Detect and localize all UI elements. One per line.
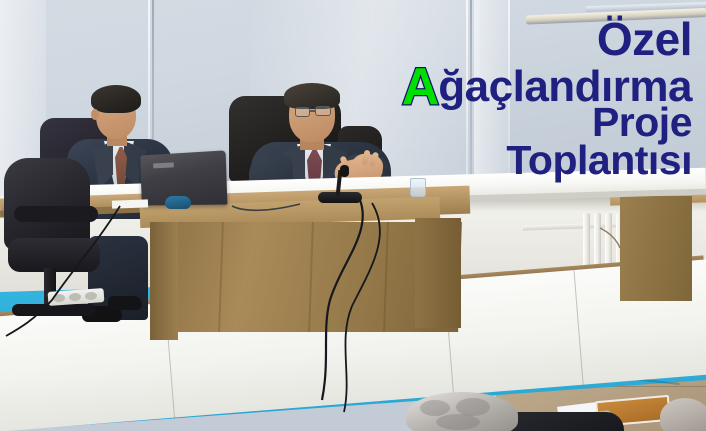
wood-grain bbox=[218, 222, 224, 332]
hair-strand bbox=[420, 400, 450, 416]
photo-canvas: Özel Ağaçlandırma Proje Toplantısı bbox=[0, 0, 706, 431]
socket bbox=[53, 294, 66, 303]
hair bbox=[284, 83, 340, 109]
laptop-logo bbox=[153, 162, 174, 168]
ear bbox=[91, 109, 99, 120]
socket bbox=[85, 292, 98, 301]
hair bbox=[91, 85, 141, 113]
microphone-capsule bbox=[340, 165, 349, 177]
chair-seat bbox=[8, 238, 100, 272]
microphone-base bbox=[318, 192, 362, 203]
wall-seam bbox=[470, 0, 472, 200]
wall-seam bbox=[508, 0, 510, 190]
eyeglasses-lens bbox=[295, 107, 310, 117]
desk-leg bbox=[150, 222, 178, 340]
foreground-office-chair bbox=[4, 158, 90, 250]
socket bbox=[69, 293, 82, 302]
hair-strand bbox=[436, 414, 480, 430]
paper-sheets bbox=[112, 199, 148, 208]
chair-base bbox=[12, 304, 96, 316]
eyeglasses-bridge bbox=[309, 110, 316, 112]
desk-right-panel bbox=[620, 196, 692, 301]
shoe bbox=[108, 296, 142, 310]
desk-leg bbox=[415, 218, 461, 328]
computer-mouse bbox=[165, 196, 191, 209]
panel-seam bbox=[573, 270, 583, 385]
water-glass bbox=[410, 178, 426, 197]
eyeglasses-lens bbox=[315, 106, 331, 116]
wood-grain bbox=[308, 222, 314, 332]
chair-armrest bbox=[14, 206, 98, 222]
audience-member-head bbox=[406, 392, 518, 431]
wood-grain bbox=[383, 222, 389, 332]
audience-member-head bbox=[660, 398, 706, 431]
